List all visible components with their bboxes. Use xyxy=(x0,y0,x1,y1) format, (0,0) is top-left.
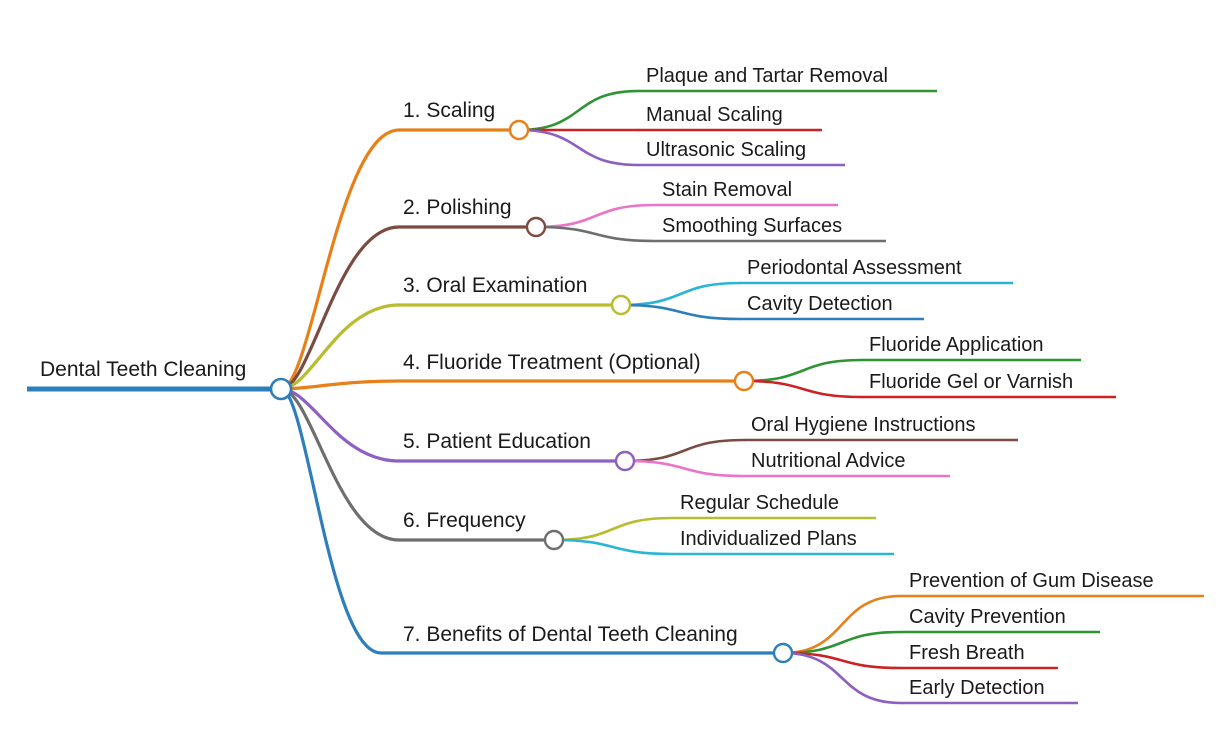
branch-node-4[interactable] xyxy=(735,372,753,390)
leaf-label-7-4[interactable]: Early Detection xyxy=(909,677,1045,700)
leaf-label-7-1[interactable]: Prevention of Gum Disease xyxy=(909,570,1154,593)
leaf-link-1-1 xyxy=(519,91,638,130)
branch-link-6 xyxy=(281,389,399,540)
leaf-label-5-2[interactable]: Nutritional Advice xyxy=(751,450,906,473)
leaf-link-4-2 xyxy=(744,381,862,397)
mindmap-canvas: Plaque and Tartar RemovalManual ScalingU… xyxy=(0,0,1229,741)
branch-node-5[interactable] xyxy=(616,452,634,470)
root-label[interactable]: Dental Teeth Cleaning xyxy=(40,358,246,382)
leaf-link-3-1 xyxy=(621,283,740,305)
leaf-label-2-1[interactable]: Stain Removal xyxy=(662,179,792,202)
branch-label-3[interactable]: 3. Oral Examination xyxy=(403,274,587,298)
branch-node-1[interactable] xyxy=(510,121,528,139)
leaf-label-4-1[interactable]: Fluoride Application xyxy=(869,334,1044,357)
branch-label-6[interactable]: 6. Frequency xyxy=(403,509,526,533)
root-node[interactable] xyxy=(271,379,291,399)
branch-node-2[interactable] xyxy=(527,218,545,236)
leaf-link-2-1 xyxy=(536,205,655,227)
leaf-link-6-2 xyxy=(554,540,672,554)
leaf-label-4-2[interactable]: Fluoride Gel or Varnish xyxy=(869,371,1073,394)
leaf-label-6-1[interactable]: Regular Schedule xyxy=(680,492,839,515)
leaf-label-7-2[interactable]: Cavity Prevention xyxy=(909,606,1066,629)
branch-label-7[interactable]: 7. Benefits of Dental Teeth Cleaning xyxy=(403,623,738,647)
leaf-link-3-2 xyxy=(621,305,740,319)
leaf-link-1-3 xyxy=(519,130,638,165)
branch-node-3[interactable] xyxy=(612,296,630,314)
leaf-link-2-2 xyxy=(536,227,655,241)
leaf-link-7-1 xyxy=(783,596,901,653)
branch-link-1 xyxy=(281,130,399,389)
branch-node-7[interactable] xyxy=(774,644,792,662)
leaf-label-6-2[interactable]: Individualized Plans xyxy=(680,528,857,551)
leaf-link-5-1 xyxy=(625,440,744,461)
leaf-label-5-1[interactable]: Oral Hygiene Instructions xyxy=(751,414,976,437)
branch-label-4[interactable]: 4. Fluoride Treatment (Optional) xyxy=(403,351,701,375)
branch-label-1[interactable]: 1. Scaling xyxy=(403,99,495,123)
leaf-label-1-1[interactable]: Plaque and Tartar Removal xyxy=(646,65,888,88)
branch-label-2[interactable]: 2. Polishing xyxy=(403,196,512,220)
leaf-label-3-1[interactable]: Periodontal Assessment xyxy=(747,257,962,280)
leaf-link-7-2 xyxy=(783,632,901,653)
branch-node-6[interactable] xyxy=(545,531,563,549)
leaf-link-5-2 xyxy=(625,461,744,476)
leaf-link-6-1 xyxy=(554,518,672,540)
leaf-label-3-2[interactable]: Cavity Detection xyxy=(747,293,893,316)
leaf-label-7-3[interactable]: Fresh Breath xyxy=(909,642,1025,665)
branch-link-3 xyxy=(281,305,399,389)
leaf-label-1-2[interactable]: Manual Scaling xyxy=(646,104,783,127)
leaf-label-2-2[interactable]: Smoothing Surfaces xyxy=(662,215,842,238)
leaf-label-1-3[interactable]: Ultrasonic Scaling xyxy=(646,139,806,162)
leaf-link-4-1 xyxy=(744,360,862,381)
branch-label-5[interactable]: 5. Patient Education xyxy=(403,430,591,454)
